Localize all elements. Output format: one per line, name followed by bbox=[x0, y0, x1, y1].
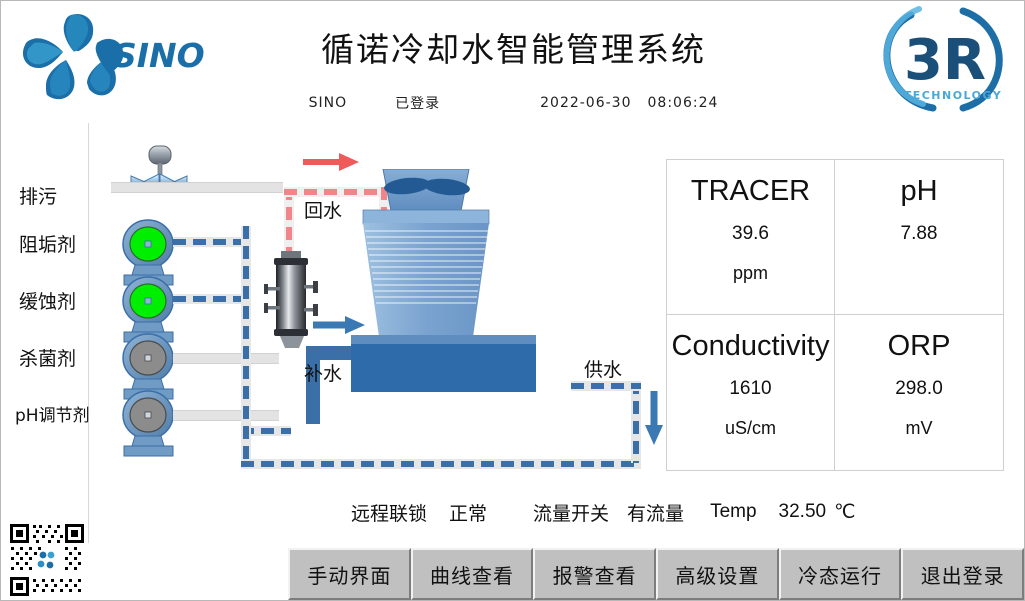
cooling-tower bbox=[341, 169, 621, 426]
manual-interface-button[interactable]: 手动界面 bbox=[288, 548, 411, 600]
sidebar-item-biocide[interactable]: 杀菌剂 bbox=[19, 344, 129, 371]
sidebar-item-ph-adjuster[interactable]: pH调节剂 bbox=[15, 401, 125, 426]
3r-logo-text: 3R bbox=[904, 28, 986, 93]
sidebar-item-antiscalant[interactable]: 阻垢剂 bbox=[19, 230, 129, 257]
label-makeup-water: 补水 bbox=[304, 359, 342, 386]
current-time: 08:06:24 bbox=[648, 95, 719, 111]
measurement-name: ORP bbox=[888, 327, 951, 366]
status-row: 远程联锁 正常 流量开关 有流量 Temp 32.50 ℃ bbox=[351, 495, 1011, 529]
pipe-loop-bottom bbox=[241, 459, 641, 469]
measurement-value: 298.0 bbox=[895, 378, 943, 400]
3r-technology-logo: 3R TECHNOLOGY bbox=[867, 3, 1024, 119]
analyzer-vessel-icon[interactable] bbox=[263, 251, 321, 364]
measurement-panel: TRACER 39.6 ppm pH 7.88 Conductivity 161… bbox=[666, 159, 1004, 471]
pipe-loop-right bbox=[631, 381, 641, 463]
navigation-button-bar: 手动界面 曲线查看 报警查看 高级设置 冷态运行 退出登录 bbox=[288, 548, 1024, 600]
measurement-cell-tracer[interactable]: TRACER 39.6 ppm bbox=[667, 160, 835, 315]
measurement-name: pH bbox=[900, 172, 937, 211]
current-date: 2022-06-30 bbox=[540, 95, 631, 111]
remote-lock-status-badge: 正常 bbox=[449, 499, 487, 526]
login-status: 已登录 bbox=[395, 93, 440, 113]
label-supply-water: 供水 bbox=[584, 355, 622, 382]
header: SINO 循诺冷却水智能管理系统 SINO 已登录 2022-06-30 08:… bbox=[1, 1, 1025, 123]
measurement-cell-conductivity[interactable]: Conductivity 1610 uS/cm bbox=[667, 315, 835, 470]
flow-switch-label: 流量开关 bbox=[533, 499, 609, 526]
qr-code[interactable] bbox=[7, 521, 87, 599]
cold-standby-button[interactable]: 冷态运行 bbox=[779, 548, 902, 600]
pipe-corrosion-active bbox=[173, 294, 249, 304]
measurement-cell-orp[interactable]: ORP 298.0 mV bbox=[835, 315, 1003, 470]
pump-ph-adjuster[interactable] bbox=[118, 390, 180, 458]
measurement-name: Conductivity bbox=[672, 327, 830, 366]
pipe-blowdown bbox=[111, 182, 283, 193]
user-name: SINO bbox=[309, 95, 348, 111]
temperature-value: 32.50 bbox=[779, 501, 827, 523]
sidebar-item-corrosion-inhibitor[interactable]: 缓蚀剂 bbox=[19, 287, 129, 314]
logout-button[interactable]: 退出登录 bbox=[901, 548, 1024, 600]
measurement-unit: mV bbox=[906, 418, 933, 439]
measurement-name: TRACER bbox=[691, 172, 810, 211]
label-return-water: 回水 bbox=[304, 196, 342, 223]
measurement-value: 39.6 bbox=[732, 223, 769, 245]
supply-flow-arrow-icon bbox=[643, 389, 665, 447]
alarm-view-button[interactable]: 报警查看 bbox=[533, 548, 656, 600]
measurement-value: 7.88 bbox=[901, 223, 938, 245]
trend-curve-button[interactable]: 曲线查看 bbox=[411, 548, 534, 600]
measurement-value: 1610 bbox=[729, 378, 771, 400]
flow-switch-status-badge: 有流量 bbox=[627, 499, 684, 526]
measurement-cell-ph[interactable]: pH 7.88 bbox=[835, 160, 1003, 315]
blowdown-valve-icon[interactable] bbox=[119, 142, 197, 203]
temperature-unit: ℃ bbox=[834, 501, 855, 524]
pipe-dosing-riser bbox=[241, 226, 251, 436]
measurement-unit: ppm bbox=[733, 263, 768, 284]
hmi-screen: SINO 循诺冷却水智能管理系统 SINO 已登录 2022-06-30 08:… bbox=[0, 0, 1025, 601]
temperature-label: Temp bbox=[710, 501, 756, 523]
pipe-antiscalant-active bbox=[173, 237, 249, 247]
measurement-unit: uS/cm bbox=[725, 418, 776, 439]
advanced-settings-button[interactable]: 高级设置 bbox=[656, 548, 779, 600]
3r-logo-subtext: TECHNOLOGY bbox=[904, 89, 1003, 102]
pipe-ph-idle bbox=[173, 410, 279, 421]
remote-lock-label: 远程联锁 bbox=[351, 499, 427, 526]
